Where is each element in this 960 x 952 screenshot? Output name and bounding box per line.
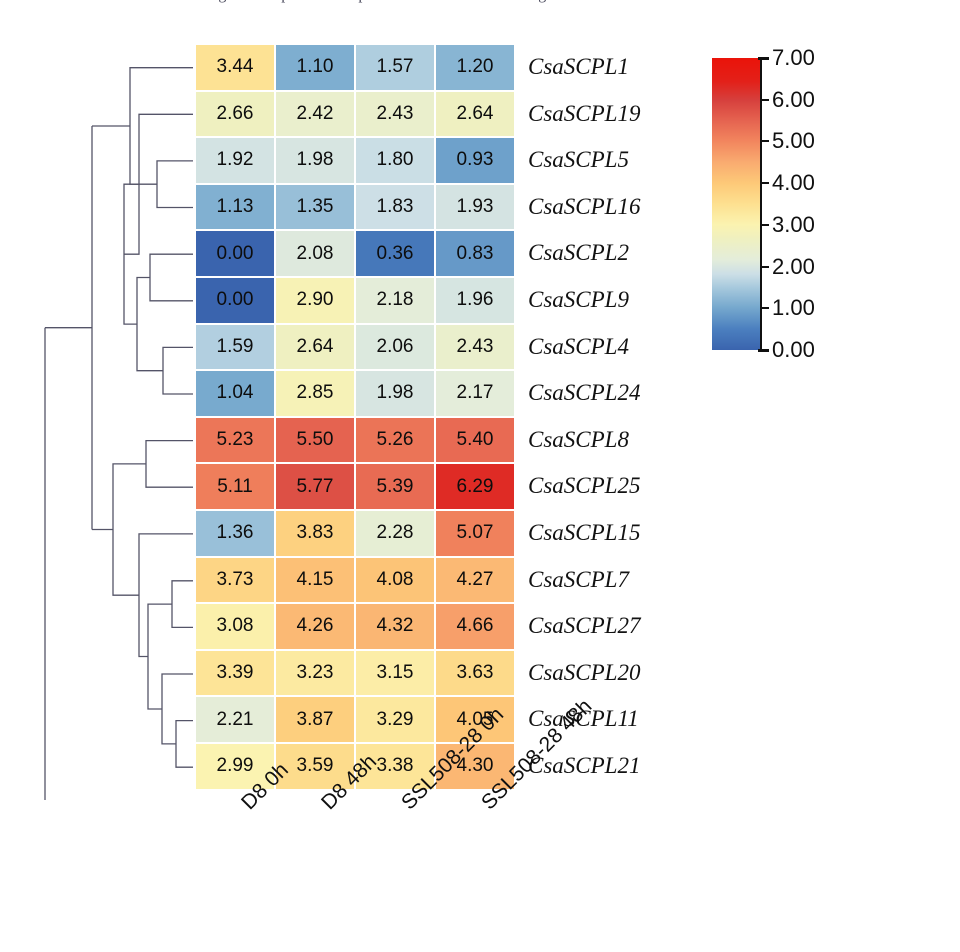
heatmap-cell: 2.28 xyxy=(355,510,435,557)
colorbar-tick xyxy=(760,307,769,309)
colorbar-tick xyxy=(758,349,769,352)
heatmap-cell: 2.64 xyxy=(435,91,515,138)
heatmap-cell: 2.85 xyxy=(275,370,355,417)
heatmap-cell: 1.57 xyxy=(355,44,435,91)
heatmap-cell: 5.50 xyxy=(275,417,355,464)
heatmap-cell: 1.98 xyxy=(275,137,355,184)
heatmap-cell: 1.59 xyxy=(195,324,275,371)
heatmap-cell: 2.43 xyxy=(355,91,435,138)
row-label: CsaSCPL20 xyxy=(528,650,640,697)
heatmap-cell: 1.92 xyxy=(195,137,275,184)
dendrogram-links xyxy=(45,68,193,800)
colorbar-axis-line xyxy=(760,58,762,350)
heatmap-cell: 3.44 xyxy=(195,44,275,91)
heatmap-cell: 0.36 xyxy=(355,230,435,277)
colorbar-tick xyxy=(760,140,769,142)
heatmap-cell: 1.93 xyxy=(435,184,515,231)
colorbar-tick xyxy=(760,266,769,268)
heatmap-cell: 3.63 xyxy=(435,650,515,697)
colorbar-tick xyxy=(758,57,769,60)
row-dendrogram xyxy=(0,0,200,800)
heatmap-cell: 3.73 xyxy=(195,557,275,604)
heatmap-cell: 0.00 xyxy=(195,277,275,324)
heatmap-cell: 3.39 xyxy=(195,650,275,697)
colorbar-tick xyxy=(760,99,769,101)
row-label: CsaSCPL16 xyxy=(528,184,640,231)
heatmap-cell: 5.77 xyxy=(275,463,355,510)
heatmap-cell: 0.00 xyxy=(195,230,275,277)
heatmap-cell: 3.83 xyxy=(275,510,355,557)
colorbar-tick-label: 1.00 xyxy=(772,295,815,321)
heatmap-cell: 1.10 xyxy=(275,44,355,91)
heatmap-cell: 4.32 xyxy=(355,603,435,650)
colorbar-tick-label: 5.00 xyxy=(772,128,815,154)
heatmap-cell: 0.83 xyxy=(435,230,515,277)
heatmap-cell: 1.96 xyxy=(435,277,515,324)
heatmap-cell: 2.43 xyxy=(435,324,515,371)
heatmap-cell: 2.64 xyxy=(275,324,355,371)
heatmap-cell: 4.26 xyxy=(275,603,355,650)
heatmap-cell: 5.39 xyxy=(355,463,435,510)
heatmap-cell: 1.20 xyxy=(435,44,515,91)
heatmap-cell: 3.87 xyxy=(275,696,355,743)
heatmap-cell: 4.27 xyxy=(435,557,515,604)
row-label: CsaSCPL4 xyxy=(528,324,629,371)
heatmap-cell: 2.42 xyxy=(275,91,355,138)
heatmap-cell: 2.90 xyxy=(275,277,355,324)
heatmap-cell: 1.13 xyxy=(195,184,275,231)
heatmap-cell: 3.08 xyxy=(195,603,275,650)
row-label-column: CsaSCPL1CsaSCPL19CsaSCPL5CsaSCPL16CsaSCP… xyxy=(528,44,718,790)
heatmap-cell: 1.83 xyxy=(355,184,435,231)
row-label: CsaSCPL15 xyxy=(528,510,640,557)
colorbar-tick-label: 6.00 xyxy=(772,87,815,113)
column-label-row: D8 0hD8 48hSSL508-28 0hSSL508-28 48h xyxy=(195,790,615,950)
heatmap-cell: 1.80 xyxy=(355,137,435,184)
heatmap-cell: 1.35 xyxy=(275,184,355,231)
heatmap-cell: 2.06 xyxy=(355,324,435,371)
row-label: CsaSCPL1 xyxy=(528,44,629,91)
heatmap-cell: 5.07 xyxy=(435,510,515,557)
colorbar-tick xyxy=(760,182,769,184)
heatmap-cell: 5.40 xyxy=(435,417,515,464)
heatmap-cell: 2.08 xyxy=(275,230,355,277)
row-label: CsaSCPL24 xyxy=(528,370,640,417)
colorbar-tick-label: 4.00 xyxy=(772,170,815,196)
heatmap-cell: 4.66 xyxy=(435,603,515,650)
heatmap-figure: Figure expression profiles of CsaSCPL ge… xyxy=(0,0,960,952)
heatmap-cell: 5.11 xyxy=(195,463,275,510)
heatmap-cell: 5.23 xyxy=(195,417,275,464)
row-label: CsaSCPL19 xyxy=(528,91,640,138)
heatmap-cell: 1.98 xyxy=(355,370,435,417)
heatmap-grid: 3.441.101.571.202.662.422.432.641.921.98… xyxy=(195,44,515,790)
heatmap-cell: 0.93 xyxy=(435,137,515,184)
row-label: CsaSCPL7 xyxy=(528,557,629,604)
heatmap-cell: 1.04 xyxy=(195,370,275,417)
row-label: CsaSCPL2 xyxy=(528,230,629,277)
heatmap-cell: 2.18 xyxy=(355,277,435,324)
colorbar-gradient xyxy=(712,58,760,350)
heatmap-cell: 2.66 xyxy=(195,91,275,138)
heatmap-cell: 1.36 xyxy=(195,510,275,557)
heatmap-cell: 3.15 xyxy=(355,650,435,697)
row-label: CsaSCPL25 xyxy=(528,463,640,510)
row-label: CsaSCPL8 xyxy=(528,417,629,464)
heatmap-cell: 4.08 xyxy=(355,557,435,604)
row-label: CsaSCPL9 xyxy=(528,277,629,324)
colorbar-tick-label: 0.00 xyxy=(772,337,815,363)
heatmap-cell: 2.21 xyxy=(195,696,275,743)
heatmap-cell: 4.15 xyxy=(275,557,355,604)
heatmap-cell: 3.23 xyxy=(275,650,355,697)
colorbar-tick-label: 2.00 xyxy=(772,254,815,280)
heatmap-cell: 2.17 xyxy=(435,370,515,417)
colorbar-tick xyxy=(760,224,769,226)
row-label: CsaSCPL27 xyxy=(528,603,640,650)
heatmap-cell: 6.29 xyxy=(435,463,515,510)
heatmap-cell: 3.29 xyxy=(355,696,435,743)
heatmap-cell: 5.26 xyxy=(355,417,435,464)
colorbar-tick-label: 3.00 xyxy=(772,212,815,238)
colorbar-tick-label: 7.00 xyxy=(772,45,815,71)
row-label: CsaSCPL5 xyxy=(528,137,629,184)
